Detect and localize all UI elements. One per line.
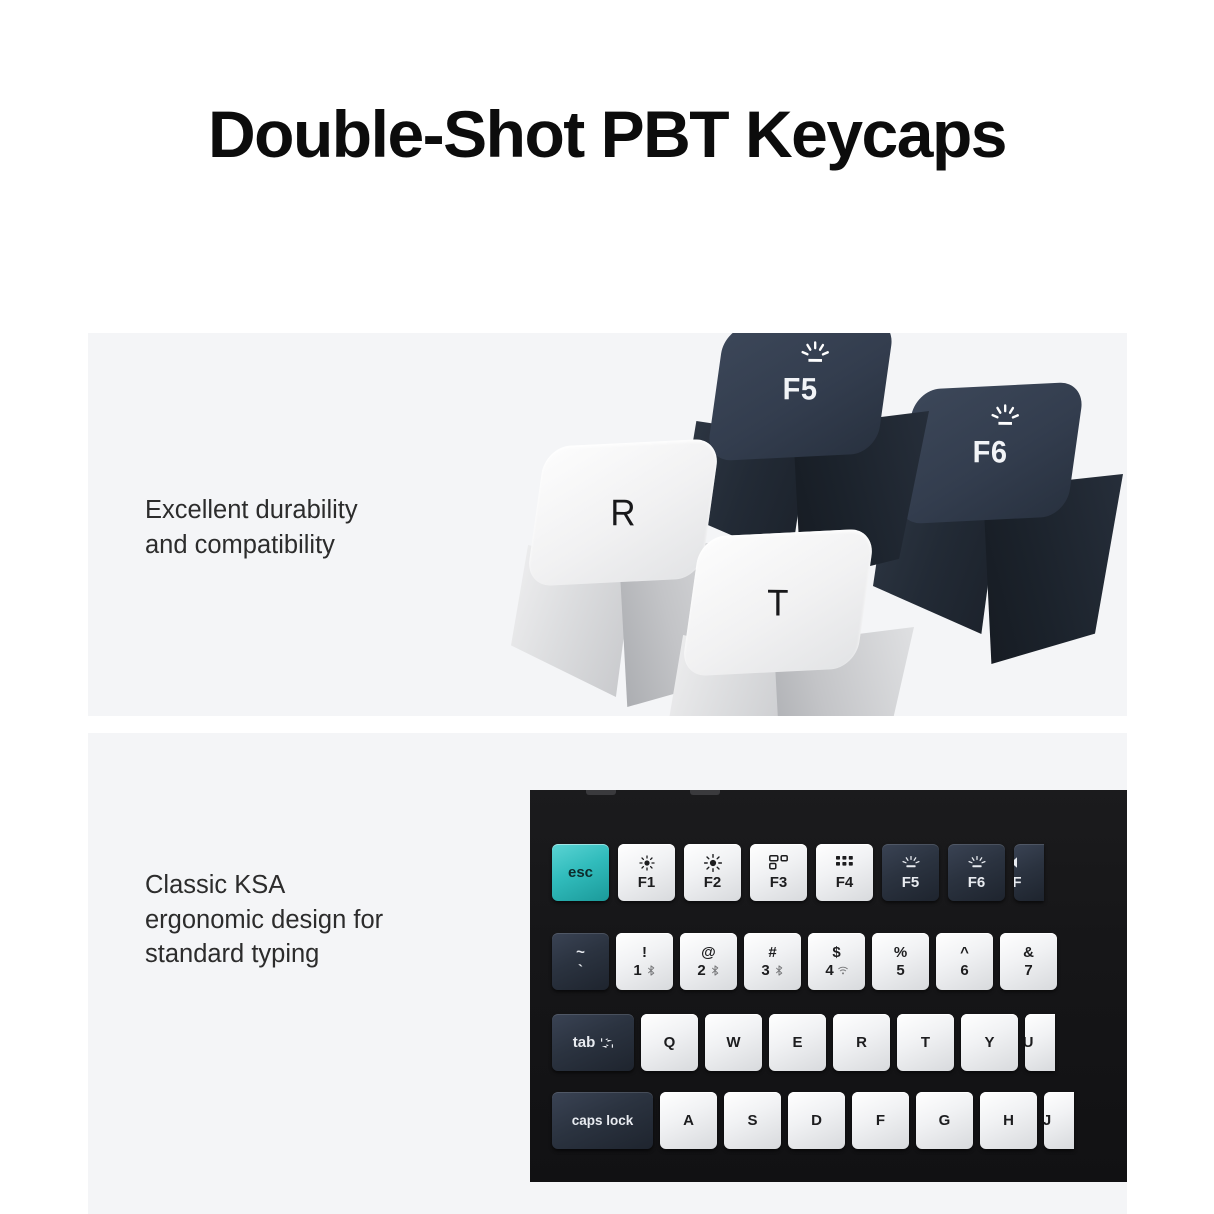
key-5-shift-label: % bbox=[894, 945, 907, 960]
key-tilde-base: ` bbox=[578, 963, 583, 978]
key-u[interactable]: U bbox=[1025, 1014, 1055, 1071]
key-6-base: 6 bbox=[960, 963, 968, 978]
tab-arrows-icon bbox=[600, 1037, 613, 1049]
keycap-f6-top: F6 bbox=[896, 382, 1085, 525]
key-f-label: F bbox=[876, 1112, 885, 1129]
backlight-icon bbox=[990, 404, 1019, 432]
key-f1[interactable]: F1 bbox=[618, 844, 675, 901]
keycap-t-legend: T bbox=[767, 581, 789, 625]
key-t[interactable]: T bbox=[897, 1014, 954, 1071]
key-7-shift-label: & bbox=[1023, 945, 1034, 960]
key-d-label: D bbox=[811, 1112, 822, 1129]
keycap-f5-legend: F5 bbox=[783, 372, 818, 407]
key-e[interactable]: E bbox=[769, 1014, 826, 1071]
key-3-base: 3 bbox=[761, 963, 783, 978]
page-title: Double-Shot PBT Keycaps bbox=[0, 98, 1214, 171]
key-f[interactable]: F bbox=[852, 1092, 909, 1149]
key-u-label: U bbox=[1025, 1034, 1033, 1051]
key-f2-label: F2 bbox=[704, 874, 722, 891]
keyboard-function-row: esc F1 bbox=[552, 844, 1044, 901]
bluetooth-icon bbox=[774, 965, 784, 976]
key-f6-label: F6 bbox=[968, 874, 986, 891]
keycap-f5: F5 bbox=[713, 333, 888, 455]
keycap-f6-legend: F6 bbox=[973, 435, 1008, 470]
key-5-base: 5 bbox=[896, 963, 904, 978]
key-j-label: J bbox=[1044, 1112, 1051, 1129]
key-tab[interactable]: tab bbox=[552, 1014, 634, 1071]
key-6[interactable]: ^ 6 bbox=[936, 933, 993, 990]
key-w[interactable]: W bbox=[705, 1014, 762, 1071]
key-s-label: S bbox=[747, 1112, 757, 1129]
key-q[interactable]: Q bbox=[641, 1014, 698, 1071]
keycap-t: T bbox=[688, 535, 868, 670]
key-1-base: 1 bbox=[633, 963, 655, 978]
key-7-base: 7 bbox=[1024, 963, 1032, 978]
key-f2[interactable]: F2 bbox=[684, 844, 741, 901]
key-7-base-label: 7 bbox=[1024, 963, 1032, 978]
key-q-label: Q bbox=[664, 1034, 676, 1051]
mission-control-icon bbox=[769, 854, 789, 871]
feature-panel-durability: Excellent durability and compatibility bbox=[88, 333, 1127, 716]
key-e-label: E bbox=[792, 1034, 802, 1051]
key-7[interactable]: & 7 bbox=[1000, 933, 1057, 990]
key-a[interactable]: A bbox=[660, 1092, 717, 1149]
backlight-icon bbox=[800, 341, 829, 369]
key-1[interactable]: ! 1 bbox=[616, 933, 673, 990]
key-f4[interactable]: F4 bbox=[816, 844, 873, 901]
key-tab-content: tab bbox=[573, 1034, 614, 1051]
key-5-base-label: 5 bbox=[896, 963, 904, 978]
bluetooth-icon bbox=[710, 965, 720, 976]
key-5[interactable]: % 5 bbox=[872, 933, 929, 990]
keycap-r: R bbox=[533, 445, 713, 580]
key-w-label: W bbox=[726, 1034, 740, 1051]
key-2-shift-label: @ bbox=[701, 945, 716, 960]
keyboard-nub bbox=[690, 790, 720, 795]
key-tilde-shift-label: ~ bbox=[576, 945, 585, 960]
panel-caption-durability: Excellent durability and compatibility bbox=[145, 493, 358, 562]
key-t-label: T bbox=[921, 1034, 930, 1051]
key-3[interactable]: # 3 bbox=[744, 933, 801, 990]
key-g-label: G bbox=[939, 1112, 951, 1129]
key-f6[interactable]: F6 bbox=[948, 844, 1005, 901]
key-s[interactable]: S bbox=[724, 1092, 781, 1149]
key-4-shift-label: $ bbox=[832, 945, 840, 960]
key-3-shift-label: # bbox=[768, 945, 776, 960]
brightness-up-icon bbox=[704, 854, 722, 871]
key-4-base: 4 bbox=[825, 963, 847, 978]
panel-caption-ergonomics: Classic KSA ergonomic design for standar… bbox=[145, 868, 383, 972]
key-caps-lock-label: caps lock bbox=[572, 1113, 634, 1128]
key-y-label: Y bbox=[984, 1034, 994, 1051]
key-4[interactable]: $ 4 bbox=[808, 933, 865, 990]
key-y[interactable]: Y bbox=[961, 1014, 1018, 1071]
keyboard-number-row: ~ ` ! 1 @ bbox=[552, 933, 1057, 990]
key-tilde[interactable]: ~ ` bbox=[552, 933, 609, 990]
key-tilde-base-label: ` bbox=[578, 963, 583, 978]
key-2-base: 2 bbox=[697, 963, 719, 978]
key-1-base-label: 1 bbox=[633, 963, 641, 978]
key-3-base-label: 3 bbox=[761, 963, 769, 978]
key-d[interactable]: D bbox=[788, 1092, 845, 1149]
key-f3-label: F3 bbox=[770, 874, 788, 891]
backlight-up-icon bbox=[968, 854, 986, 871]
key-2[interactable]: @ 2 bbox=[680, 933, 737, 990]
key-f3[interactable]: F3 bbox=[750, 844, 807, 901]
keycap-t-top: T bbox=[681, 528, 876, 676]
key-r[interactable]: R bbox=[833, 1014, 890, 1071]
key-2-base-label: 2 bbox=[697, 963, 705, 978]
keycap-f5-top: F5 bbox=[706, 333, 895, 461]
key-f1-label: F1 bbox=[638, 874, 656, 891]
key-f5[interactable]: F5 bbox=[882, 844, 939, 901]
wifi-icon bbox=[838, 965, 848, 976]
launchpad-icon bbox=[836, 854, 853, 871]
brightness-down-icon bbox=[639, 854, 655, 871]
keyboard-top-nubs bbox=[586, 790, 720, 795]
keyboard-qwerty-row: tab Q W E R T Y U bbox=[552, 1014, 1055, 1071]
backlight-down-icon bbox=[902, 854, 920, 871]
key-g[interactable]: G bbox=[916, 1092, 973, 1149]
key-f7-label: F bbox=[1014, 874, 1022, 891]
keyboard-nub bbox=[586, 790, 616, 795]
key-f7[interactable]: F bbox=[1014, 844, 1044, 901]
key-a-label: A bbox=[683, 1112, 694, 1129]
key-f4-label: F4 bbox=[836, 874, 854, 891]
key-6-base-label: 6 bbox=[960, 963, 968, 978]
keycap-r-legend: R bbox=[610, 491, 636, 535]
keycap-trio-photo: F5 bbox=[503, 333, 1127, 716]
key-caps-lock[interactable]: caps lock bbox=[552, 1092, 653, 1149]
key-h[interactable]: H bbox=[980, 1092, 1037, 1149]
keyboard-home-row: caps lock A S D F G H J bbox=[552, 1092, 1074, 1149]
key-h-label: H bbox=[1003, 1112, 1014, 1129]
bluetooth-icon bbox=[646, 965, 656, 976]
keycap-f6: F6 bbox=[903, 388, 1078, 518]
key-r-label: R bbox=[856, 1034, 867, 1051]
key-6-shift-label: ^ bbox=[960, 945, 969, 960]
key-tab-label: tab bbox=[573, 1034, 596, 1051]
key-f5-label: F5 bbox=[902, 874, 920, 891]
product-feature-page: Double-Shot PBT Keycaps Excellent durabi… bbox=[0, 0, 1214, 1214]
feature-panel-ergonomics: Classic KSA ergonomic design for standar… bbox=[88, 733, 1127, 1214]
key-1-shift-label: ! bbox=[642, 945, 647, 960]
key-esc[interactable]: esc bbox=[552, 844, 609, 901]
key-esc-label: esc bbox=[568, 864, 593, 881]
key-4-base-label: 4 bbox=[825, 963, 833, 978]
key-j[interactable]: J bbox=[1044, 1092, 1074, 1149]
keyboard-photo: esc F1 bbox=[530, 790, 1127, 1182]
volume-icon bbox=[1014, 854, 1025, 871]
